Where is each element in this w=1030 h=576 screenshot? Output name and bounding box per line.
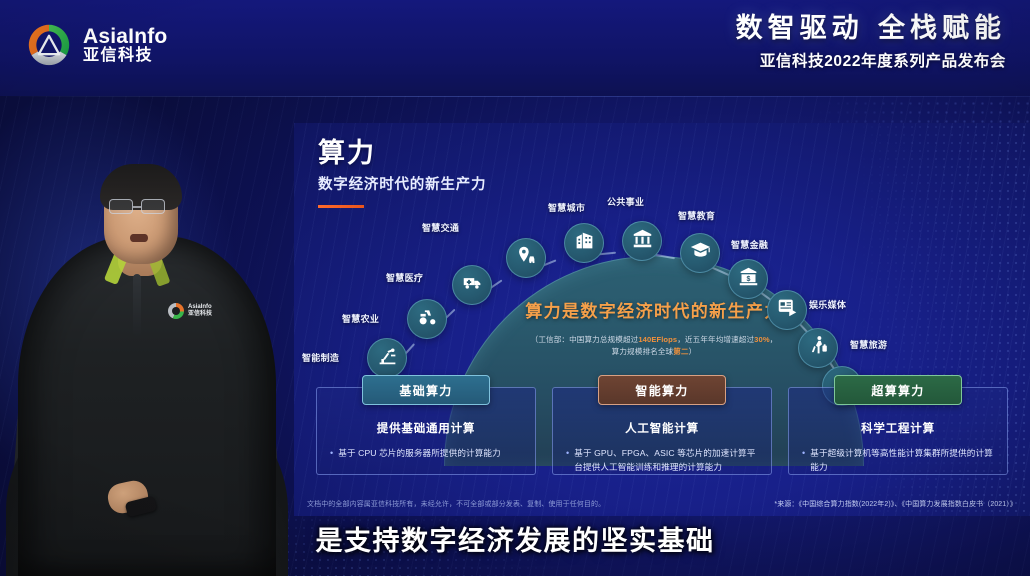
- slide-title-block: 算力 数字经济时代的新生产力: [318, 140, 486, 208]
- presenter-glasses-right: [141, 199, 165, 214]
- industry-node-smart-manufacturing[interactable]: [367, 338, 407, 378]
- map-pin-car-icon: [516, 245, 537, 271]
- industry-node-public-utilities[interactable]: [622, 221, 662, 261]
- slide-footer: 文档中的全部内容属亚信科技所有，未经允许，不可全部或部分发表、复制、使用于任何目…: [307, 500, 1017, 509]
- city-building-icon: [574, 230, 595, 256]
- card-heading: 人工智能计算: [552, 420, 772, 436]
- shirt-logo-en: AsiaInfo: [188, 304, 212, 310]
- dome-note-l2-post: ）: [689, 347, 697, 356]
- industry-node-label: 智慧教育: [678, 209, 715, 222]
- subtitle-caption: 是支持数字经济发展的坚实基础: [0, 519, 1030, 558]
- dome-note-stat-rank: 第二: [673, 347, 688, 356]
- industry-node-smart-transport[interactable]: [506, 238, 546, 278]
- dome-note-stat-growth: 30%: [754, 335, 770, 344]
- presenter-shirt-logo: AsiaInfo 亚信科技: [168, 302, 220, 320]
- presenter-glasses-left: [109, 199, 133, 214]
- card-bullet: • 基于 GPU、FPGA、ASIC 等芯片的加速计算平台提供人工智能训练和推理…: [566, 447, 758, 475]
- video-stage: AsiaInfo 亚信科技 数智驱动 全栈赋能 亚信科技2022年度系列产品发布…: [0, 0, 1030, 576]
- industry-node-label: 智慧旅游: [850, 338, 887, 351]
- presenter-shirt-logo-text: AsiaInfo 亚信科技: [188, 304, 212, 319]
- industry-node-label: 娱乐媒体: [809, 298, 846, 311]
- robot-arm-icon: [377, 345, 398, 371]
- dome-note-l1-mid: ，近五年年均增速超过: [677, 335, 754, 344]
- industry-node-label: 智慧农业: [342, 312, 379, 325]
- industry-node-smart-finance[interactable]: $: [728, 259, 768, 299]
- asiainfo-triangle-logo-icon: [168, 303, 184, 319]
- bank-money-icon: $: [738, 266, 759, 292]
- industry-node-smart-city[interactable]: [564, 223, 604, 263]
- compute-card-supercomputing[interactable]: 超算算力 科学工程计算 • 基于超级计算机等高性能计算集群所提供的计算能力: [788, 375, 1008, 475]
- dome-note-l2-pre: 算力规模排名全球: [612, 347, 674, 356]
- card-tab-label[interactable]: 基础算力: [362, 375, 490, 405]
- industry-node-smart-healthcare[interactable]: [452, 265, 492, 305]
- presenter-mouth: [130, 234, 148, 242]
- compute-type-cards: 基础算力 提供基础通用计算 • 基于 CPU 芯片的服务器所提供的计算能力 智能…: [316, 375, 1008, 475]
- dome-note-stat-flops: 140EFlops: [638, 335, 677, 344]
- card-heading: 科学工程计算: [788, 420, 1008, 436]
- traveler-luggage-icon: [808, 335, 829, 361]
- card-bullet: • 基于超级计算机等高性能计算集群所提供的计算能力: [802, 447, 994, 475]
- dome-note-l1-pre: （工信部：中国算力总规模超过: [531, 335, 639, 344]
- industry-node-smart-tourism[interactable]: [798, 328, 838, 368]
- industry-node-label: 智慧城市: [548, 201, 585, 214]
- industry-node-entertainment-media[interactable]: [767, 290, 807, 330]
- title-accent-rule: [318, 205, 364, 208]
- event-slogan-sub: 亚信科技2022年度系列产品发布会: [736, 49, 1006, 71]
- card-tab-label[interactable]: 超算算力: [834, 375, 962, 405]
- slide-subtitle: 数字经济时代的新生产力: [318, 178, 486, 193]
- shirt-logo-cn: 亚信科技: [188, 311, 212, 317]
- presenter-video-figure: AsiaInfo 亚信科技: [0, 0, 300, 576]
- svg-text:$: $: [746, 276, 750, 283]
- card-tab-label[interactable]: 智能算力: [598, 375, 726, 405]
- industry-node-label: 智能制造: [302, 351, 339, 364]
- presentation-slide: 算力 数字经济时代的新生产力 算力是数字经济时代的新生产力 （工信部：中国算力总…: [294, 123, 1030, 516]
- card-heading: 提供基础通用计算: [316, 420, 536, 436]
- bullet-dot-icon: •: [330, 447, 333, 460]
- industry-node-label: 公共事业: [607, 195, 644, 208]
- slide-title: 算力: [318, 140, 486, 167]
- compute-card-basic[interactable]: 基础算力 提供基础通用计算 • 基于 CPU 芯片的服务器所提供的计算能力: [316, 375, 536, 475]
- industry-node-smart-education[interactable]: [680, 233, 720, 273]
- slide-disclaimer: 文档中的全部内容属亚信科技所有，未经允许，不可全部或部分发表、复制、使用于任何目…: [307, 500, 605, 509]
- presenter-shirt-placket: [133, 274, 141, 336]
- industry-node-label: 智慧交通: [422, 221, 459, 234]
- compute-card-intelligent[interactable]: 智能算力 人工智能计算 • 基于 GPU、FPGA、ASIC 等芯片的加速计算平…: [552, 375, 772, 475]
- industry-node-label: 智慧医疗: [386, 271, 423, 284]
- media-play-icon: [777, 297, 798, 323]
- bullet-dot-icon: •: [802, 447, 805, 460]
- ambulance-icon: [462, 272, 483, 298]
- bullet-dot-icon: •: [566, 447, 569, 460]
- dome-note-l1-post: ，: [770, 335, 778, 344]
- event-slogan-main: 数智驱动 全栈赋能: [736, 14, 1006, 44]
- presenter-glasses-bridge: [133, 206, 141, 208]
- card-bullet: • 基于 CPU 芯片的服务器所提供的计算能力: [330, 447, 522, 461]
- card-bullet-text: 基于超级计算机等高性能计算集群所提供的计算能力: [810, 447, 994, 475]
- industry-node-label: 智慧金融: [731, 238, 768, 251]
- government-bank-icon: [632, 228, 653, 254]
- event-slogan: 数智驱动 全栈赋能 亚信科技2022年度系列产品发布会: [736, 14, 1006, 71]
- slide-source-citation: *来源：《中国综合算力指数(2022年2)》、《中国算力发展指数白皮书（2021…: [774, 500, 1017, 509]
- industry-node-smart-agriculture[interactable]: [407, 299, 447, 339]
- card-bullet-text: 基于 CPU 芯片的服务器所提供的计算能力: [338, 447, 501, 461]
- tractor-icon: [417, 306, 438, 332]
- card-bullet-text: 基于 GPU、FPGA、ASIC 等芯片的加速计算平台提供人工智能训练和推理的计…: [574, 447, 758, 475]
- graduation-cap-icon: [690, 240, 711, 266]
